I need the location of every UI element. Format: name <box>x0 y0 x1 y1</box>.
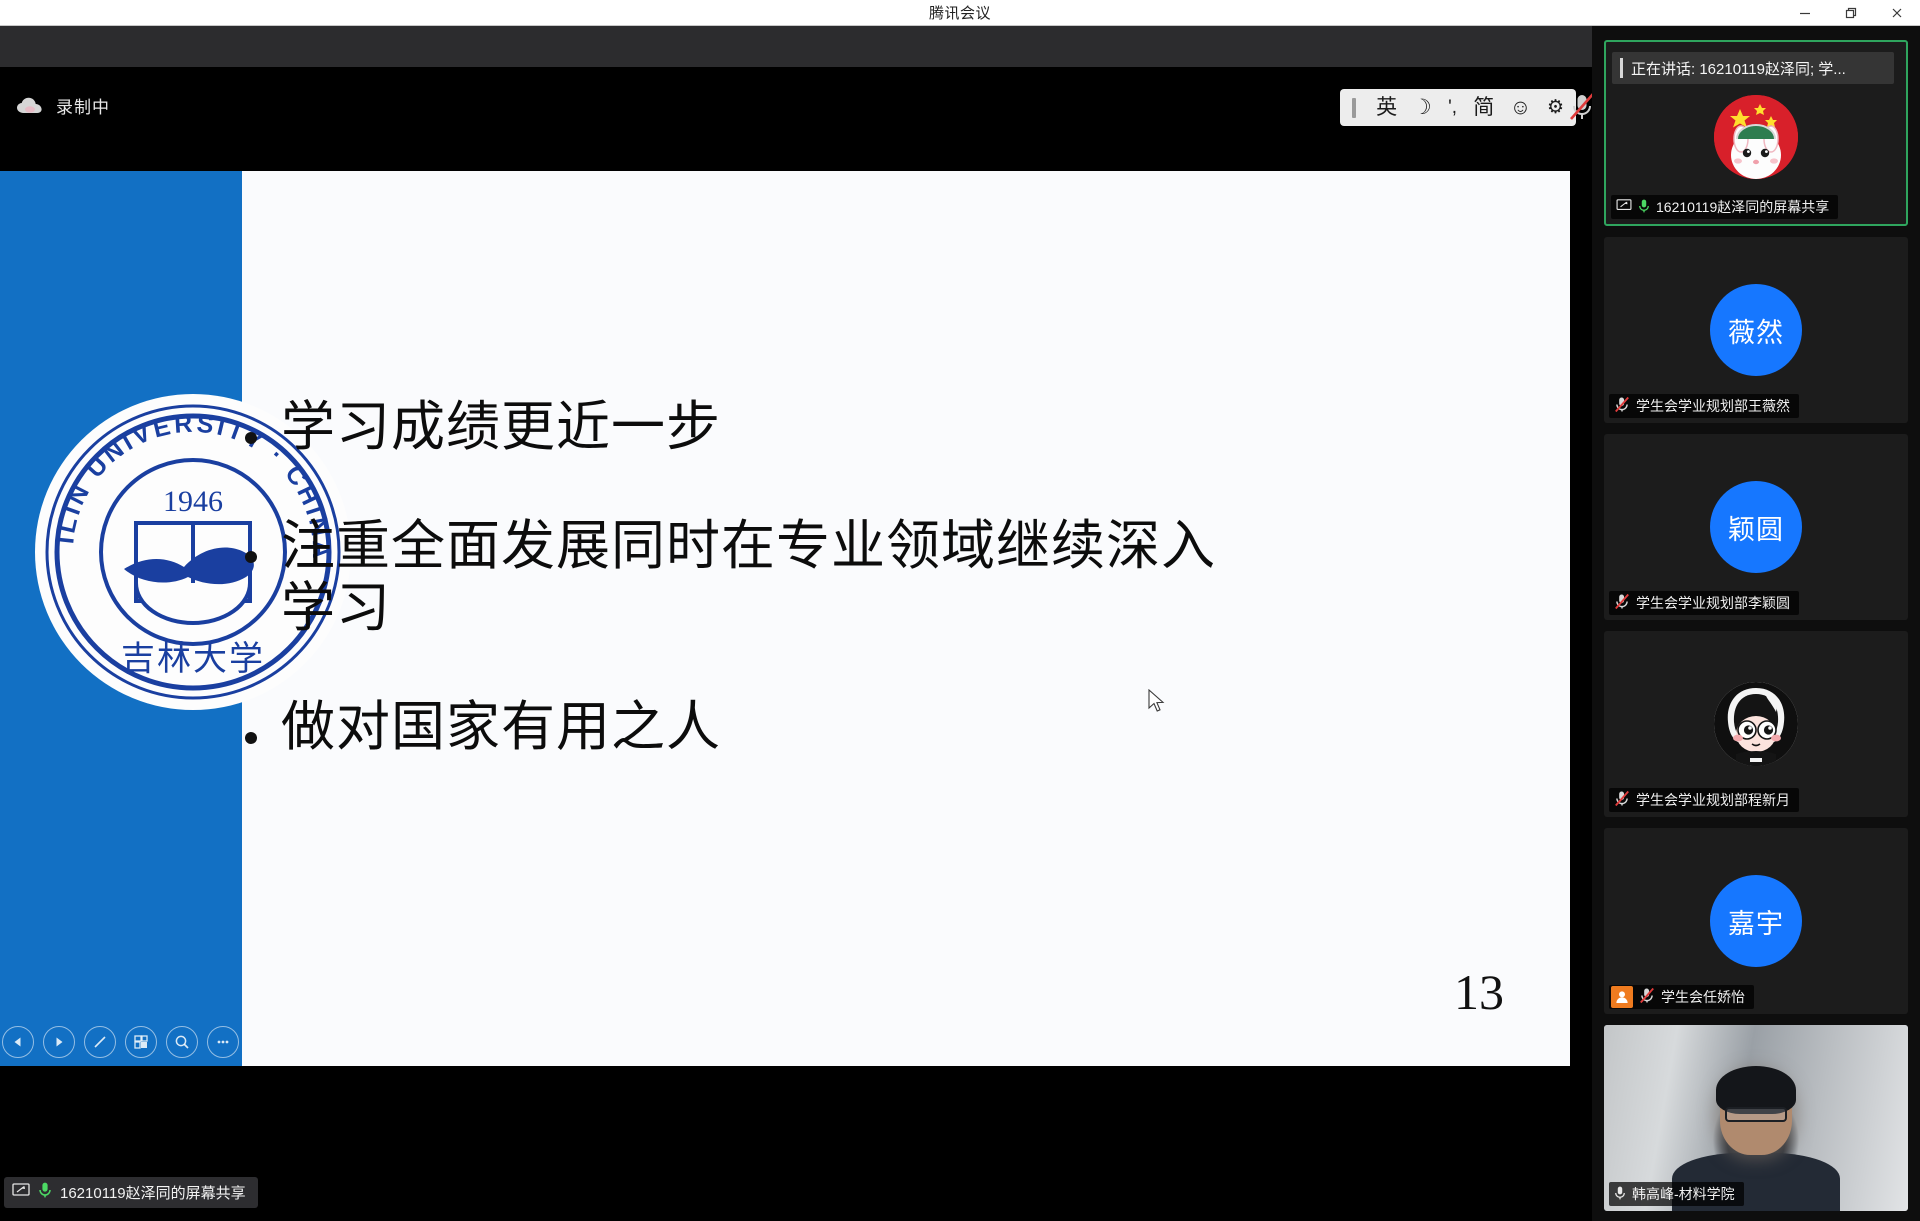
participant-name: 学生会任娇怡 <box>1661 987 1745 1007</box>
screen-share-icon <box>12 1183 30 1203</box>
bullet-dot-icon <box>245 432 257 444</box>
avatar: 薇然 <box>1710 284 1802 376</box>
participant-tile[interactable]: 薇然 学生会学业规划部王薇然 <box>1604 237 1908 423</box>
avatar: 颖圆 <box>1710 481 1802 573</box>
mouse-cursor <box>1148 689 1166 720</box>
restore-button[interactable] <box>1828 0 1874 26</box>
participant-tile[interactable]: 学生会学业规划部程新月 <box>1604 631 1908 817</box>
svg-text:1946: 1946 <box>163 485 223 518</box>
next-slide-button[interactable] <box>43 1026 75 1058</box>
participant-tile[interactable]: 嘉宇 学生会任娇怡 <box>1604 828 1908 1014</box>
recording-label: 录制中 <box>56 93 110 118</box>
host-badge-icon <box>1611 986 1633 1008</box>
participant-name-badge: 学生会学业规划部王薇然 <box>1609 394 1799 418</box>
pen-icon[interactable] <box>84 1026 116 1058</box>
participant-name: 学生会学业规划部程新月 <box>1636 790 1790 810</box>
shared-screen-area: JILIN UNIVERSITY · CHINA 1946 吉林大学 学习成绩更… <box>0 171 1592 1074</box>
minimize-button[interactable] <box>1782 0 1828 26</box>
ime-toolbar[interactable]: 英 ☽ ', 简 ☺ ⚙ <box>1340 89 1576 126</box>
participant-name-badge: 学生会学业规划部李颖圆 <box>1609 591 1799 615</box>
ime-language-mode[interactable]: 英 <box>1368 97 1405 118</box>
previous-slide-button[interactable] <box>2 1026 34 1058</box>
mic-muted-icon <box>1614 396 1630 416</box>
mic-on-icon <box>1614 1185 1626 1204</box>
avatar: 嘉宇 <box>1710 875 1802 967</box>
bullet-text: 注重全面发展同时在专业领域继续深入学习 <box>281 515 1245 640</box>
participant-name: 韩高峰-材料学院 <box>1632 1184 1735 1204</box>
ime-simplified-mode[interactable]: 简 <box>1466 97 1503 118</box>
window-title: 腾讯会议 <box>929 2 991 23</box>
participant-name-badge: 学生会学业规划部程新月 <box>1609 788 1799 812</box>
avatar <box>1714 682 1798 766</box>
grid-icon[interactable] <box>125 1026 157 1058</box>
punctuation-icon[interactable]: ', <box>1440 98 1466 117</box>
participants-rail[interactable]: 正在讲话: 16210119赵泽同; 学... <box>1592 26 1920 1221</box>
bullet-dot-icon <box>245 551 257 563</box>
participant-name-badge: 学生会任娇怡 <box>1609 985 1754 1009</box>
participant-tile[interactable]: 颖圆 学生会学业规划部李颖圆 <box>1604 434 1908 620</box>
video-person-glasses <box>1725 1107 1787 1122</box>
cloud-icon <box>16 96 44 116</box>
participant-name: 学生会学业规划部李颖圆 <box>1636 593 1790 613</box>
mic-muted-icon <box>1614 593 1630 613</box>
participant-name-badge: 16210119赵泽同的屏幕共享 <box>1611 195 1838 219</box>
slide-bullet-item: 学习成绩更近一步 <box>245 396 1245 459</box>
close-button[interactable] <box>1874 0 1920 26</box>
window-controls <box>1782 0 1920 26</box>
speaking-banner: 正在讲话: 16210119赵泽同; 学... <box>1612 52 1894 84</box>
slide-bullet-list: 学习成绩更近一步 注重全面发展同时在专业领域继续深入学习 做对国家有用之人 <box>245 396 1245 815</box>
bullet-text: 做对国家有用之人 <box>281 696 721 759</box>
participant-name: 学生会学业规划部王薇然 <box>1636 396 1790 416</box>
smiley-icon[interactable]: ☺ <box>1502 97 1539 118</box>
screen-share-status-label: 16210119赵泽同的屏幕共享 <box>60 1182 246 1203</box>
title-bar: 腾讯会议 <box>0 0 1920 26</box>
speaking-banner-label: 正在讲话: 16210119赵泽同; 学... <box>1631 58 1846 79</box>
slide-page-number: 13 <box>1454 963 1504 1021</box>
speaking-indicator-bar <box>1620 58 1623 78</box>
meeting-header-strip <box>0 26 1592 67</box>
ppt-presenter-toolbar[interactable] <box>0 1026 239 1058</box>
participant-tile[interactable]: 正在讲话: 16210119赵泽同; 学... <box>1604 40 1908 226</box>
screen-share-icon <box>1616 199 1632 215</box>
ellipsis-icon[interactable] <box>207 1026 239 1058</box>
slide-bullet-item: 注重全面发展同时在专业领域继续深入学习 <box>245 515 1245 640</box>
mic-muted-icon <box>1639 987 1655 1007</box>
avatar <box>1714 95 1798 179</box>
svg-text:吉林大学: 吉林大学 <box>121 639 265 679</box>
moon-icon[interactable]: ☽ <box>1405 97 1440 118</box>
bullet-dot-icon <box>245 732 257 744</box>
participant-tile[interactable]: 韩高峰-材料学院 <box>1604 1025 1908 1211</box>
mic-on-icon <box>38 1181 52 1204</box>
bullet-text: 学习成绩更近一步 <box>281 396 721 459</box>
recording-indicator[interactable]: 录制中 <box>16 93 110 118</box>
tencent-meeting-window: 腾讯会议 <box>0 0 1920 1221</box>
magnifier-icon[interactable] <box>166 1026 198 1058</box>
screen-share-status-bar[interactable]: 16210119赵泽同的屏幕共享 <box>4 1177 258 1208</box>
slide-bullet-item: 做对国家有用之人 <box>245 696 1245 759</box>
participant-name: 16210119赵泽同的屏幕共享 <box>1656 197 1829 217</box>
ime-drag-handle[interactable] <box>1352 98 1356 118</box>
mic-on-icon <box>1638 198 1650 217</box>
presentation-slide[interactable]: JILIN UNIVERSITY · CHINA 1946 吉林大学 学习成绩更… <box>0 171 1570 1066</box>
participant-name-badge: 韩高峰-材料学院 <box>1609 1182 1744 1206</box>
mic-muted-icon <box>1614 790 1630 810</box>
